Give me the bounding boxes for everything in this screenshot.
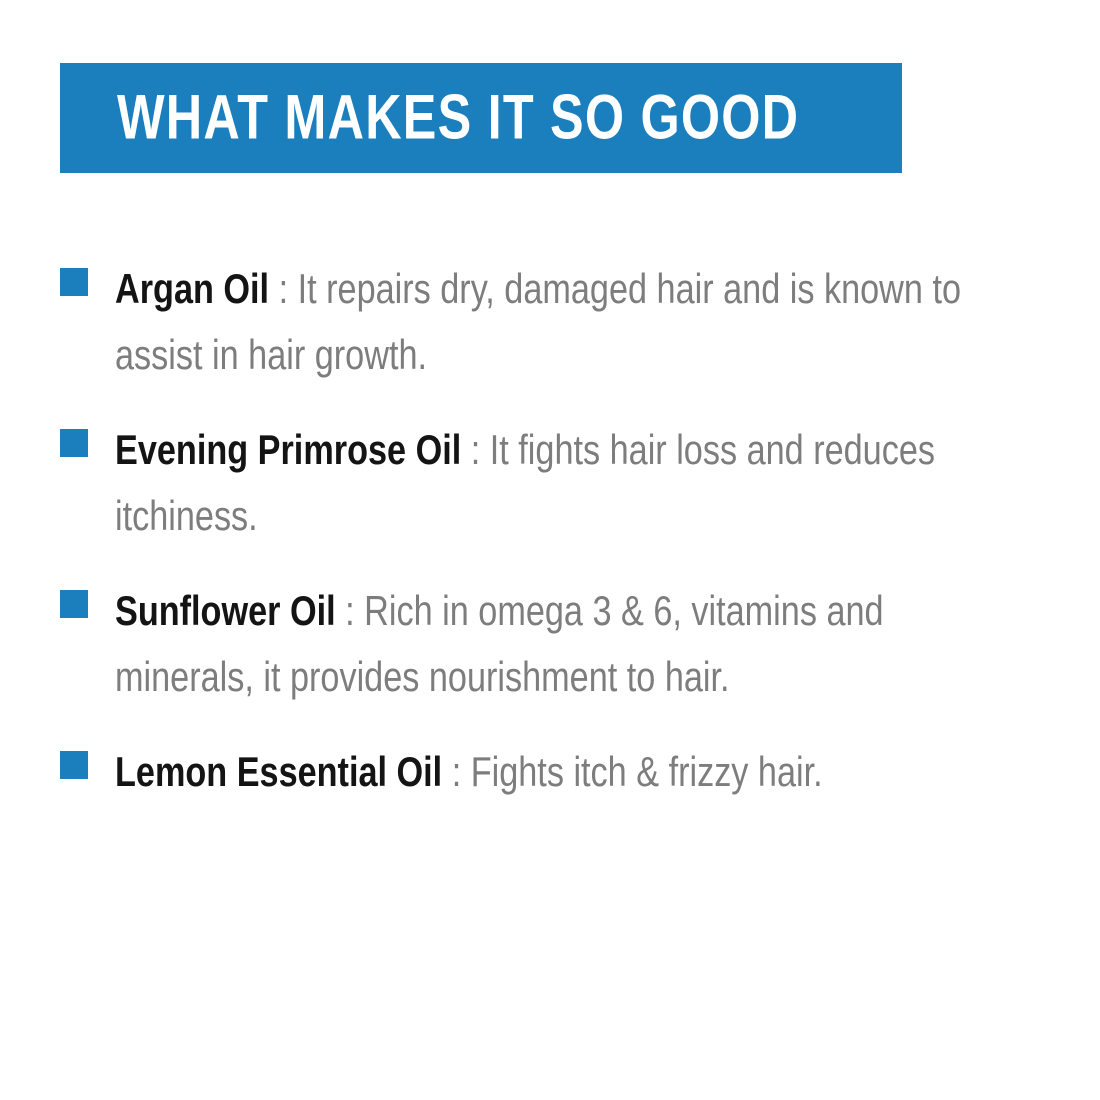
benefit-name: Argan Oil	[115, 265, 269, 312]
benefit-name: Evening Primrose Oil	[115, 426, 461, 473]
product-benefits-page: WHAT MAKES IT SO GOOD Argan Oil : It rep…	[0, 0, 1100, 1100]
benefit-separator: :	[336, 587, 365, 634]
benefit-name: Lemon Essential Oil	[115, 748, 442, 795]
section-header-banner: WHAT MAKES IT SO GOOD	[60, 63, 902, 173]
benefit-text: Lemon Essential Oil : Fights itch & friz…	[115, 739, 967, 805]
benefit-separator: :	[461, 426, 490, 473]
benefit-separator: :	[442, 748, 471, 795]
blue-square-bullet-icon	[60, 429, 88, 457]
page-title: WHAT MAKES IT SO GOOD	[117, 87, 799, 150]
benefit-text: Sunflower Oil : Rich in omega 3 & 6, vit…	[115, 578, 967, 710]
blue-square-bullet-icon	[60, 590, 88, 618]
list-item: Sunflower Oil : Rich in omega 3 & 6, vit…	[60, 578, 960, 710]
benefit-text: Evening Primrose Oil : It fights hair lo…	[115, 417, 967, 549]
list-item: Argan Oil : It repairs dry, damaged hair…	[60, 256, 960, 388]
benefits-list: Argan Oil : It repairs dry, damaged hair…	[60, 256, 960, 805]
blue-square-bullet-icon	[60, 751, 88, 779]
benefit-name: Sunflower Oil	[115, 587, 336, 634]
list-item: Lemon Essential Oil : Fights itch & friz…	[60, 739, 960, 805]
benefit-separator: :	[269, 265, 298, 312]
benefit-text: Argan Oil : It repairs dry, damaged hair…	[115, 256, 967, 388]
list-item: Evening Primrose Oil : It fights hair lo…	[60, 417, 960, 549]
benefit-description: Fights itch & frizzy hair.	[471, 748, 823, 795]
blue-square-bullet-icon	[60, 268, 88, 296]
